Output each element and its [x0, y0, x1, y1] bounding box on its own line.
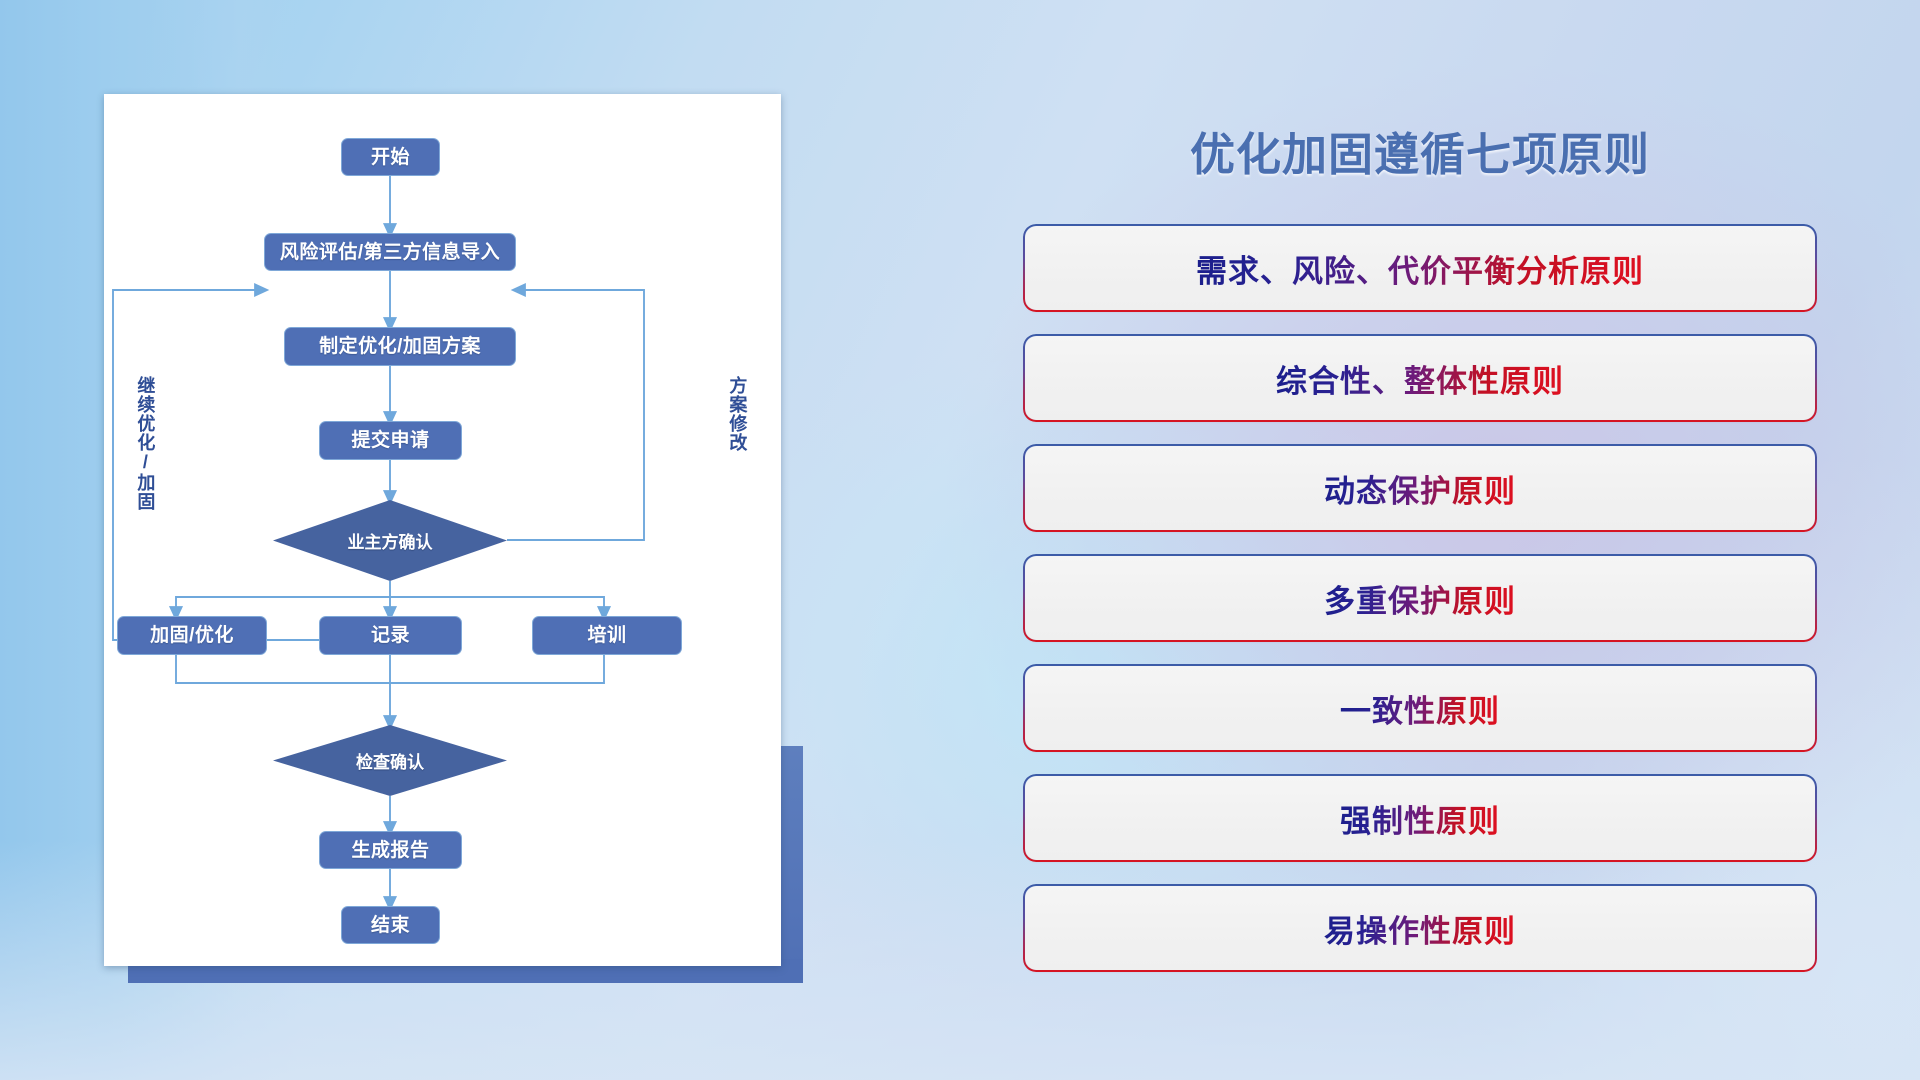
flow-node-reinforce-label: 加固/优化 — [150, 626, 234, 645]
edge-label-plan-revision: 方案修改 — [728, 376, 746, 452]
principle-card-1[interactable]: 需求、风险、代价平衡分析原则 — [1025, 226, 1815, 310]
flow-node-plan-label: 制定优化/加固方案 — [319, 337, 481, 356]
flow-node-generate-report[interactable]: 生成报告 — [319, 831, 462, 869]
principle-card-4[interactable]: 多重保护原则 — [1025, 556, 1815, 640]
principle-card-5-label: 一致性原则 — [1340, 686, 1500, 731]
flow-node-start[interactable]: 开始 — [341, 138, 440, 176]
principle-card-6-label: 强制性原则 — [1340, 796, 1500, 841]
principle-card-6[interactable]: 强制性原则 — [1025, 776, 1815, 860]
flow-node-training[interactable]: 培训 — [532, 616, 682, 655]
principles-panel: 优化加固遵循七项原则 需求、风险、代价平衡分析原则 综合性、整体性原则 动态保护… — [1025, 100, 1815, 1000]
flow-node-plan[interactable]: 制定优化/加固方案 — [284, 327, 516, 366]
flow-node-risk-assessment[interactable]: 风险评估/第三方信息导入 — [264, 233, 516, 271]
principles-title: 优化加固遵循七项原则 — [1025, 118, 1815, 183]
principle-card-3-label: 动态保护原则 — [1324, 466, 1516, 511]
flow-node-submit-application-label: 提交申请 — [351, 431, 429, 450]
principle-card-2-label: 综合性、整体性原则 — [1276, 356, 1564, 401]
principles-list: 需求、风险、代价平衡分析原则 综合性、整体性原则 动态保护原则 多重保护原则 一… — [1025, 226, 1815, 996]
flow-node-record[interactable]: 记录 — [319, 616, 462, 655]
flow-node-submit-application[interactable]: 提交申请 — [319, 421, 462, 460]
flow-node-end-label: 结束 — [371, 916, 410, 935]
flow-node-owner-confirm[interactable]: 业主方确认 — [273, 500, 507, 581]
flowchart: 开始 风险评估/第三方信息导入 制定优化/加固方案 提交申请 业主方确认 加固/… — [104, 94, 781, 966]
principle-card-2[interactable]: 综合性、整体性原则 — [1025, 336, 1815, 420]
principle-card-7-label: 易操作性原则 — [1324, 906, 1516, 951]
flow-node-check-confirm[interactable]: 检查确认 — [273, 725, 507, 796]
flow-node-end[interactable]: 结束 — [341, 906, 440, 944]
principle-card-1-label: 需求、风险、代价平衡分析原则 — [1196, 246, 1644, 291]
flow-node-risk-assessment-label: 风险评估/第三方信息导入 — [280, 243, 500, 262]
principle-card-4-label: 多重保护原则 — [1324, 576, 1516, 621]
flow-node-check-confirm-label: 检查确认 — [356, 748, 424, 773]
flow-node-start-label: 开始 — [371, 148, 410, 167]
flow-node-record-label: 记录 — [371, 626, 410, 645]
edge-label-continue-optimize: 继续优化/加固 — [136, 376, 154, 511]
flow-node-owner-confirm-label: 业主方确认 — [348, 528, 433, 553]
principle-card-7[interactable]: 易操作性原则 — [1025, 886, 1815, 970]
flow-node-generate-report-label: 生成报告 — [351, 841, 429, 860]
principle-card-5[interactable]: 一致性原则 — [1025, 666, 1815, 750]
principle-card-3[interactable]: 动态保护原则 — [1025, 446, 1815, 530]
flow-node-training-label: 培训 — [587, 626, 626, 645]
flow-node-reinforce[interactable]: 加固/优化 — [117, 616, 267, 655]
